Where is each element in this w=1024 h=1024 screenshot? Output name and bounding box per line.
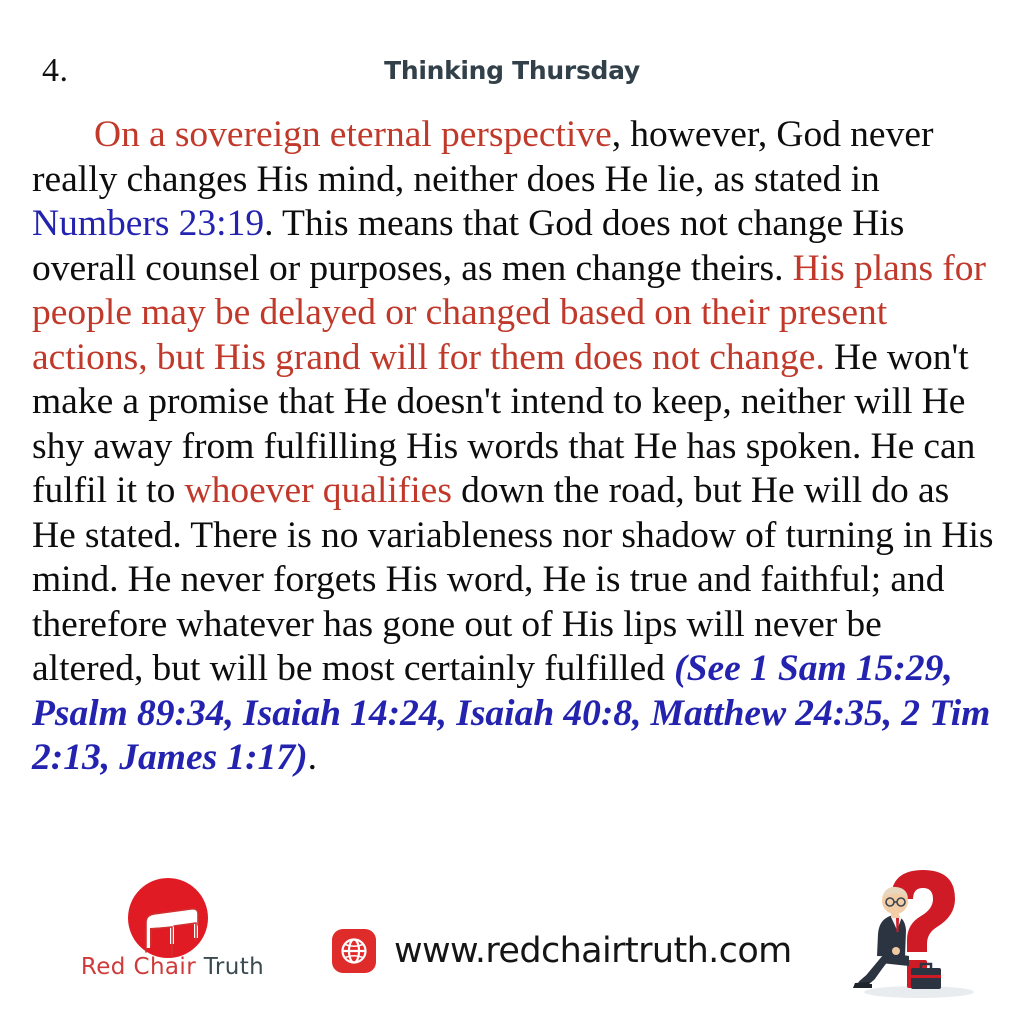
question-mark-businessman-icon xyxy=(839,864,994,1009)
body-segment-blue: Numbers 23:19 xyxy=(32,203,264,244)
footer: Red Chair Truth www.redchairtruth.com xyxy=(0,864,1024,1024)
poster-page: 4. Thinking Thursday On a sovereign eter… xyxy=(0,0,1024,1024)
header: 4. Thinking Thursday xyxy=(0,48,1024,98)
red-chair-circle-icon xyxy=(120,878,216,960)
globe-icon xyxy=(332,929,376,973)
series-title: Thinking Thursday xyxy=(0,56,1024,85)
brand-word-dark: Truth xyxy=(196,954,264,980)
body-paragraph: On a sovereign eternal perspective, howe… xyxy=(32,113,994,781)
body-segment-red: On a sovereign eternal perspective xyxy=(94,114,612,155)
brand-wordmark: Red Chair Truth xyxy=(70,954,275,980)
website-link[interactable]: www.redchairtruth.com xyxy=(332,924,792,978)
body-segment-plain: . xyxy=(308,737,317,778)
brand-logo[interactable]: Red Chair Truth xyxy=(70,878,275,998)
body-segment-red: whoever qualifies xyxy=(185,470,452,511)
brand-word-red: Red Chair xyxy=(81,954,196,980)
website-url-text: www.redchairtruth.com xyxy=(394,931,792,971)
